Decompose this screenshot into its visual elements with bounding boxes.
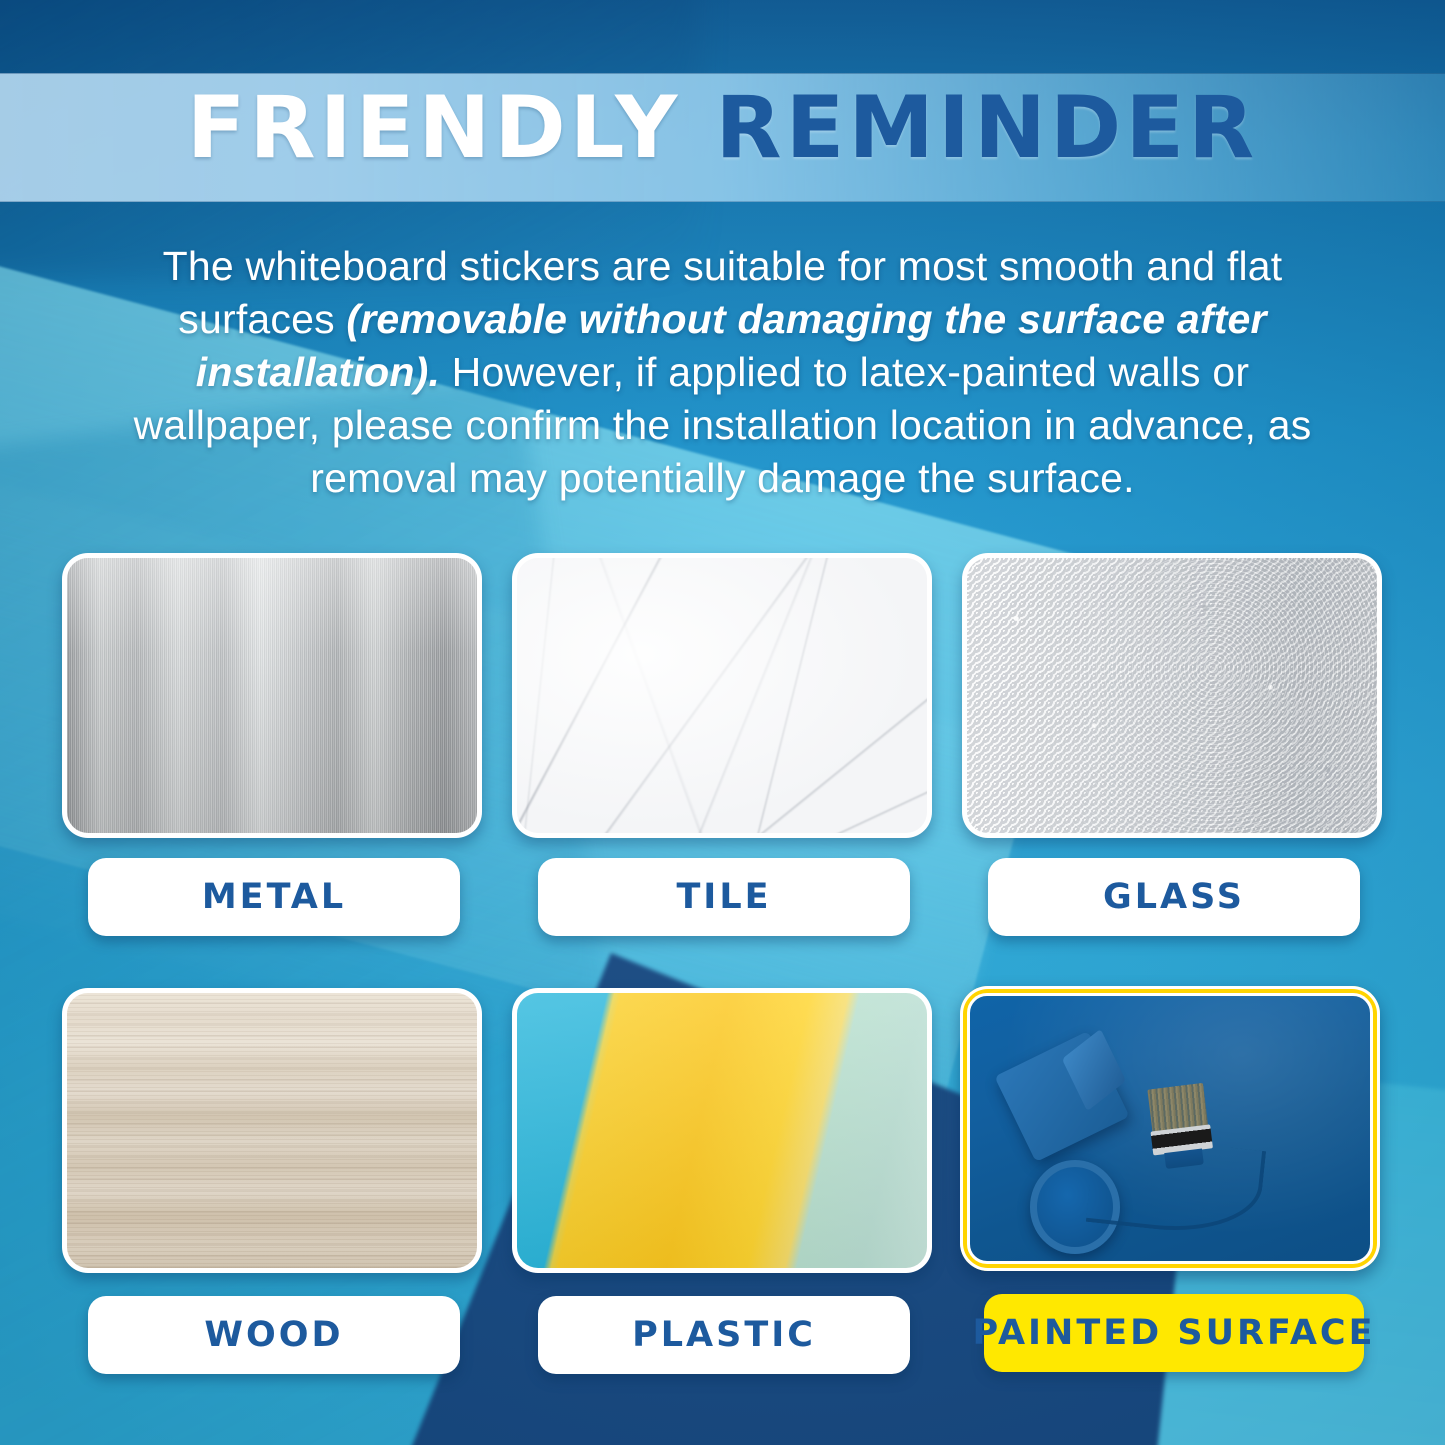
body-paragraph: The whiteboard stickers are suitable for…: [120, 240, 1325, 505]
surface-label-tile-text: TILE: [676, 877, 771, 917]
title-word-friendly: FRIENDLY: [187, 78, 682, 178]
surface-label-plastic-text: PLASTIC: [632, 1315, 816, 1355]
tile-texture-image: [517, 558, 927, 833]
surface-label-metal[interactable]: METAL: [88, 858, 460, 936]
surface-label-painted-surface-text: PAINTED SURFACE: [973, 1313, 1376, 1353]
surface-label-glass[interactable]: GLASS: [988, 858, 1360, 936]
plastic-texture-image: [517, 993, 927, 1268]
paintbrush-icon: [1145, 1083, 1214, 1169]
metal-texture-image: [67, 558, 477, 833]
surface-card-metal[interactable]: [62, 553, 482, 838]
surface-label-tile[interactable]: TILE: [538, 858, 910, 936]
surface-label-plastic[interactable]: PLASTIC: [538, 1296, 910, 1374]
surface-card-glass[interactable]: [962, 553, 1382, 838]
surface-card-wood[interactable]: [62, 988, 482, 1273]
surface-label-wood-text: WOOD: [204, 1315, 343, 1355]
page-title: FRIENDLY REMINDER: [0, 58, 1445, 198]
surface-label-wood[interactable]: WOOD: [88, 1296, 460, 1374]
surface-card-plastic[interactable]: [512, 988, 932, 1273]
title-word-reminder: REMINDER: [715, 78, 1258, 178]
surface-label-painted-surface[interactable]: PAINTED SURFACE: [984, 1294, 1364, 1372]
surface-label-metal-text: METAL: [202, 877, 346, 917]
surface-label-glass-text: GLASS: [1103, 877, 1245, 917]
surface-card-tile[interactable]: [512, 553, 932, 838]
glass-texture-image: [967, 558, 1377, 833]
painted-surface-texture-image: [967, 993, 1373, 1264]
surface-card-painted-surface[interactable]: [960, 986, 1380, 1271]
wood-texture-image: [67, 993, 477, 1268]
poster-root: FRIENDLY REMINDER The whiteboard sticker…: [0, 0, 1445, 1445]
